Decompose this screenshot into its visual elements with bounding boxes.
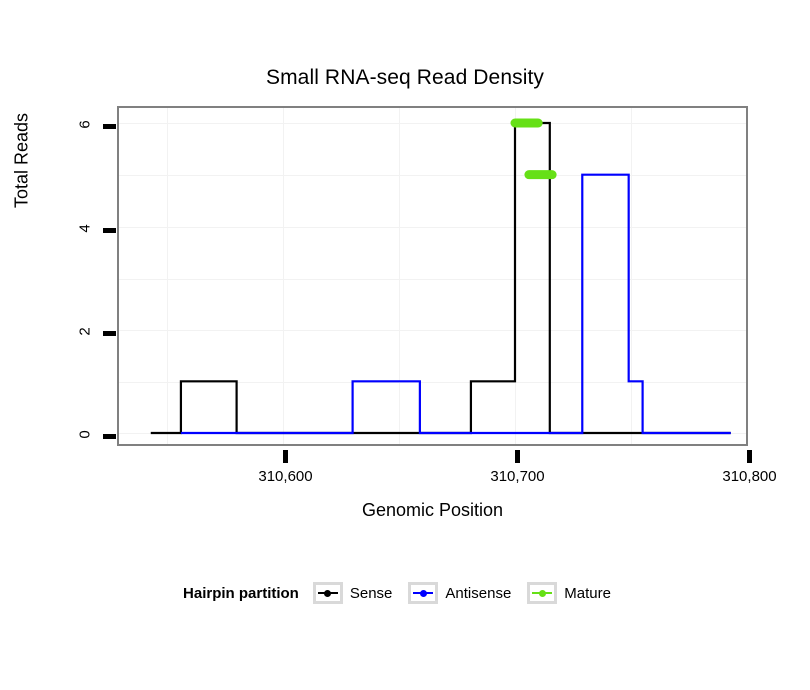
sense-dot: [324, 590, 331, 597]
y-tick-label-6: 6: [77, 113, 94, 137]
mature-key-icon: [527, 582, 557, 604]
legend-item-antisense[interactable]: Antisense: [408, 582, 527, 604]
y-tick-label-2: 2: [77, 320, 94, 344]
legend: Hairpin partition Sense Antisense Mature: [0, 582, 810, 604]
y-axis-title: Total Reads: [12, 81, 33, 241]
chart-figure: Small RNA-seq Read Density Total Reads 6…: [0, 0, 810, 690]
x-tick-310800: [747, 450, 752, 463]
antisense-key-icon: [408, 582, 438, 604]
legend-label-antisense: Antisense: [445, 585, 511, 602]
x-tick-label-310600: 310,600: [226, 468, 346, 485]
series-antisense: [181, 175, 731, 433]
page-title: Small RNA-seq Read Density: [0, 66, 810, 90]
legend-label-mature: Mature: [564, 585, 611, 602]
y-tick-label-4: 4: [77, 217, 94, 241]
antisense-dot: [420, 590, 427, 597]
series-sense: [151, 123, 731, 433]
y-tick-0: [103, 434, 116, 439]
data-traces: [119, 108, 746, 444]
legend-item-mature[interactable]: Mature: [527, 582, 627, 604]
legend-title: Hairpin partition: [183, 585, 299, 602]
mature-dot: [539, 590, 546, 597]
y-tick-label-0: 0: [77, 423, 94, 447]
sense-key-icon: [313, 582, 343, 604]
x-axis-title: Genomic Position: [117, 500, 748, 521]
x-tick-310600: [283, 450, 288, 463]
y-tick-4: [103, 228, 116, 233]
legend-label-sense: Sense: [350, 585, 393, 602]
plot-panel: 6 4 2 0 310,600 310,700 310,800: [117, 106, 748, 446]
plot-area: [119, 108, 746, 444]
x-tick-label-310700: 310,700: [458, 468, 578, 485]
x-tick-label-310800: 310,800: [690, 468, 810, 485]
y-tick-6: [103, 124, 116, 129]
x-tick-310700: [515, 450, 520, 463]
legend-item-sense[interactable]: Sense: [313, 582, 409, 604]
y-tick-2: [103, 331, 116, 336]
